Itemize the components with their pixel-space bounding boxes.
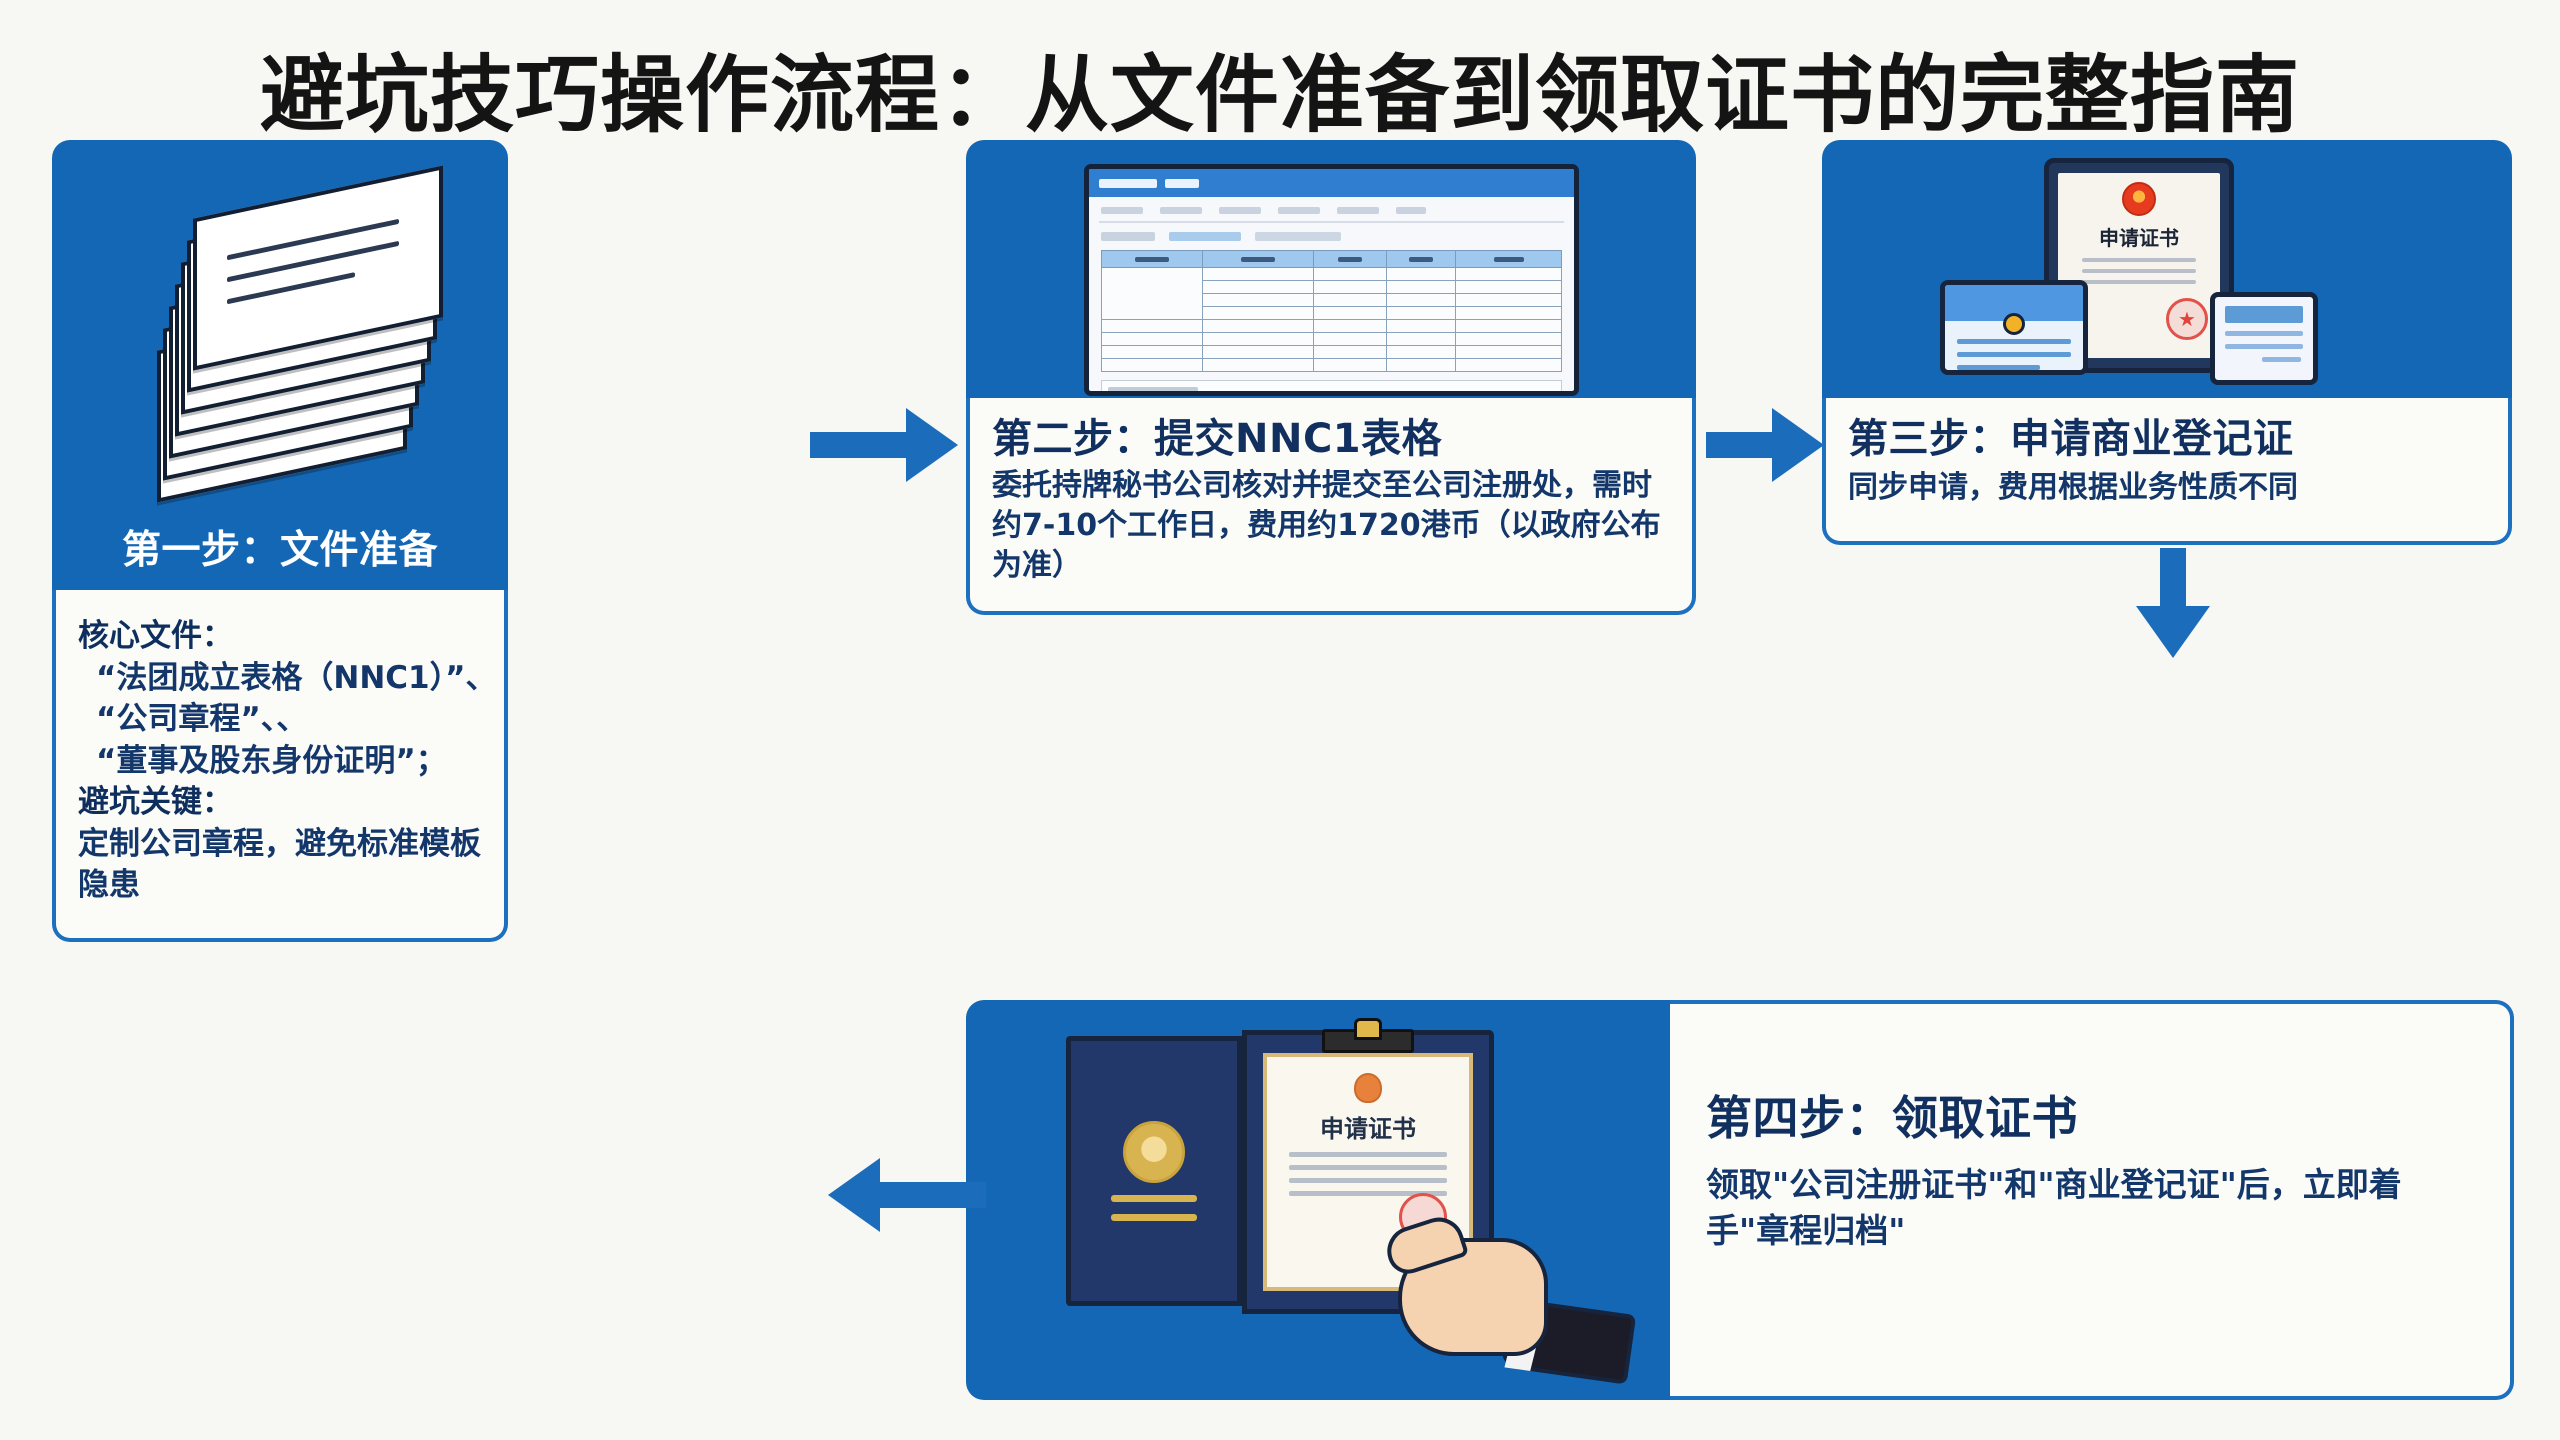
- red-seal-icon: ★: [2166, 298, 2208, 340]
- page-title: 避坑技巧操作流程：从文件准备到领取证书的完整指南: [0, 28, 2560, 149]
- infographic-canvas: 避坑技巧操作流程：从文件准备到领取证书的完整指南 第一步：文件准备 核心文: [0, 0, 2560, 1440]
- step-1-line-4: 避坑关键：: [78, 782, 486, 824]
- id-card-icon: [1940, 280, 2088, 375]
- step-card-3: 申请证书 ★ 第三步：申请商业登记证: [1822, 140, 2512, 545]
- step-2-body: 第二步：提交NNC1表格 委托持牌秘书公司核对并提交至公司注册处，需时约7-10…: [966, 398, 1696, 615]
- step-2-title: 第二步：提交NNC1表格: [992, 406, 1674, 464]
- step-3-illustration: 申请证书 ★: [1822, 140, 2512, 398]
- hand-icon: [1384, 1220, 1634, 1400]
- step-4-certificate-label: 申请证书: [1320, 1109, 1416, 1144]
- passport-certificate-hand-icon: 申请证书: [1066, 1030, 1496, 1320]
- clip-icon: [1322, 1029, 1414, 1053]
- gold-emblem-icon: [1123, 1121, 1185, 1183]
- arrow-step2-to-step3: [1706, 400, 1826, 490]
- step-2-description: 委托持牌秘书公司核对并提交至公司注册处，需时约7-10个工作日，费用约1720港…: [992, 466, 1674, 586]
- arrow-step1-to-step2: [810, 400, 960, 490]
- step-4-body: 第四步：领取证书 领取"公司注册证书"和"商业登记证"后，立即着手"章程归档": [1670, 1000, 2514, 1400]
- step-1-line-5: 定制公司章程，避免标准模板隐患: [78, 824, 486, 907]
- step-1-title: 第一步：文件准备: [122, 519, 438, 575]
- arrow-step4-to-step1: [828, 1150, 978, 1240]
- step-1-title-band: 第一步：文件准备: [52, 504, 508, 590]
- step-2-illustration: [966, 140, 1696, 398]
- document-card-icon: [2210, 292, 2318, 385]
- step-1-line-1: “法团成立表格（NNC1）”、: [78, 658, 486, 700]
- form-window-icon: [1084, 164, 1579, 396]
- step-card-2: 第二步：提交NNC1表格 委托持牌秘书公司核对并提交至公司注册处，需时约7-10…: [966, 140, 1696, 615]
- step-4-illustration: 申请证书: [966, 1000, 1670, 1400]
- step-card-1: 第一步：文件准备 核心文件： “法团成立表格（NNC1）”、 “公司章程”、、 …: [52, 140, 508, 850]
- step-1-illustration: [52, 140, 508, 504]
- step-1-line-0: 核心文件：: [78, 616, 486, 658]
- step-3-description: 同步申请，费用根据业务性质不同: [1848, 468, 2490, 508]
- step-1-line-3: “董事及股东身份证明”；: [78, 741, 486, 783]
- step-1-body: 核心文件： “法团成立表格（NNC1）”、 “公司章程”、、 “董事及股东身份证…: [52, 590, 508, 942]
- arrow-step3-to-step4: [2128, 548, 2218, 698]
- step-3-body: 第三步：申请商业登记证 同步申请，费用根据业务性质不同: [1822, 398, 2512, 545]
- orange-seal-icon: [1354, 1073, 1382, 1103]
- step-card-4: 申请证书 第四步：领取证书 领取"公司注册证书"和"商业登记证"后，立即着手"章…: [966, 1000, 2514, 1400]
- step-4-description: 领取"公司注册证书"和"商业登记证"后，立即着手"章程归档": [1706, 1162, 2484, 1253]
- step-1-line-2: “公司章程”、、: [78, 699, 486, 741]
- step-3-title: 第三步：申请商业登记证: [1848, 406, 2490, 464]
- national-emblem-icon: [2122, 182, 2156, 216]
- step-4-title: 第四步：领取证书: [1706, 1082, 2484, 1148]
- step-3-certificate-label: 申请证书: [2099, 222, 2179, 251]
